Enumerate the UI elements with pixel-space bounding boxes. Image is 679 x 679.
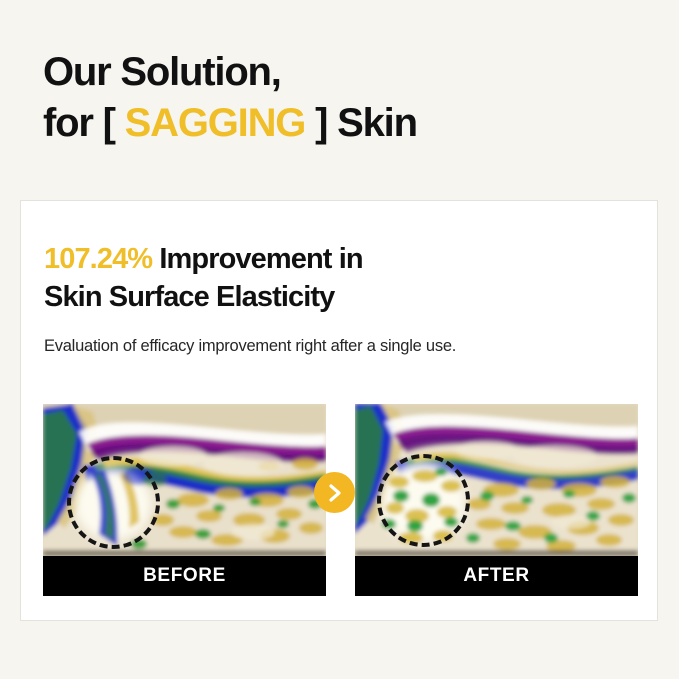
promo-page: Our Solution, for [ SAGGING ] Skin 107.2…: [0, 0, 679, 679]
before-label: BEFORE: [43, 556, 326, 596]
stat-headline: 107.24% Improvement in Skin Surface Elas…: [44, 240, 624, 316]
after-panel: AFTER: [355, 404, 638, 596]
chevron-right-icon: [327, 484, 343, 502]
comparison-arrow-button[interactable]: [314, 472, 355, 513]
efficacy-card: 107.24% Improvement in Skin Surface Elas…: [20, 200, 658, 621]
before-marker-circle: [67, 456, 160, 549]
after-marker-circle: [377, 454, 470, 547]
after-label: AFTER: [355, 556, 638, 596]
stat-headline-rest: Improvement in: [152, 243, 363, 275]
stat-value: 107.24%: [44, 243, 152, 275]
before-after-comparison: BEFORE: [43, 404, 638, 596]
headline-line-2: for [ SAGGING ] Skin: [43, 98, 643, 149]
before-panel: BEFORE: [43, 404, 326, 596]
headline-bracket-open: for [: [43, 101, 125, 145]
headline-accent-word: SAGGING: [125, 101, 306, 145]
card-subtitle: Evaluation of efficacy improvement right…: [44, 335, 644, 357]
page-title: Our Solution, for [ SAGGING ] Skin: [43, 47, 643, 149]
stat-headline-line-2: Skin Surface Elasticity: [44, 278, 624, 316]
headline-line-1: Our Solution,: [43, 47, 643, 98]
stat-headline-line-1: 107.24% Improvement in: [44, 240, 624, 278]
headline-bracket-close: ] Skin: [305, 101, 417, 145]
